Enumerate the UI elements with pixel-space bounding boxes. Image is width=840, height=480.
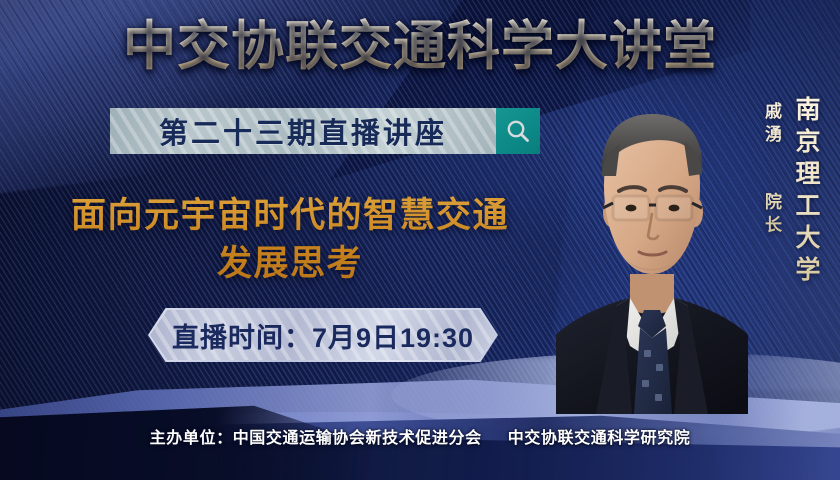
topic-title: 面向元宇宙时代的智慧交通 发展思考	[30, 192, 550, 288]
search-button[interactable]	[496, 108, 540, 154]
live-time-pill: 直播时间：7月9日19:30	[150, 310, 496, 360]
speaker-portrait	[556, 84, 748, 414]
speaker-organization: 南京理工大学	[790, 96, 822, 288]
webinar-poster: 中交协联交通科学大讲堂 第二十三期直播讲座 面向元宇宙时代的智慧交通 发展思考 …	[0, 0, 840, 480]
episode-label: 第二十三期直播讲座	[159, 110, 447, 152]
footer-host-2: 中交协联交通科学研究院	[508, 430, 691, 447]
speaker-name-and-role: 戚湧 院长	[760, 102, 782, 238]
episode-banner: 第二十三期直播讲座	[110, 108, 496, 154]
speaker-name: 戚湧	[762, 102, 781, 148]
footer-prefix: 主办单位：	[150, 430, 233, 447]
page-title: 中交协联交通科学大讲堂	[0, 14, 840, 80]
search-icon	[505, 118, 531, 144]
topic-title-line-2: 发展思考	[30, 240, 550, 288]
speaker-role: 院长	[762, 192, 781, 238]
footer-host-1: 中国交通运输协会新技术促进分会	[233, 430, 482, 447]
live-time-label: 直播时间：7月9日19:30	[172, 316, 474, 355]
footer-hosts: 主办单位：中国交通运输协会新技术促进分会中交协联交通科学研究院	[0, 424, 840, 448]
topic-title-line-1: 面向元宇宙时代的智慧交通	[30, 192, 550, 240]
